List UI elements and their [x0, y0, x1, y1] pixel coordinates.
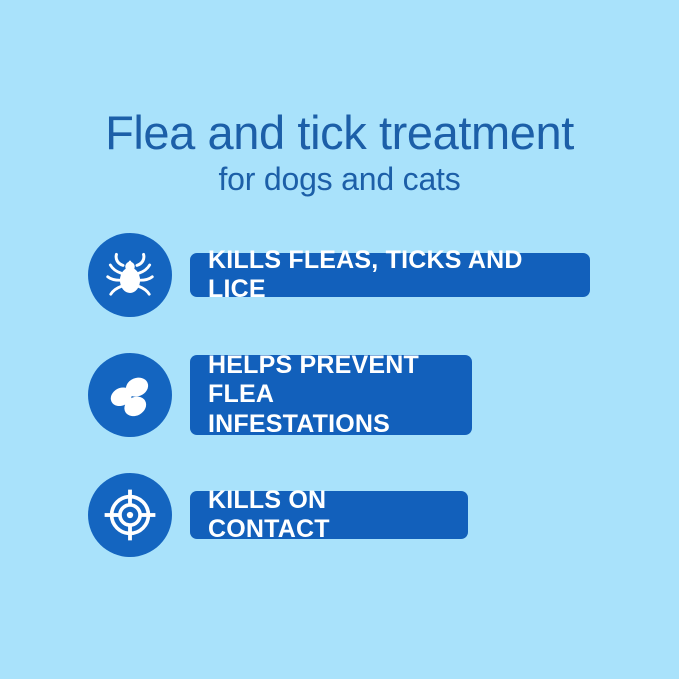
product-benefits-poster: Flea and tick treatment for dogs and cat…	[0, 0, 679, 679]
feature-row: KILLS FLEAS, TICKS AND LICE	[88, 232, 608, 318]
page-title: Flea and tick treatment	[0, 108, 679, 158]
crosshair-target-icon	[102, 487, 158, 543]
feature-list: KILLS FLEAS, TICKS AND LICE HELPS PRE	[88, 232, 608, 558]
feature-row: KILLS ON CONTACT	[88, 472, 608, 558]
feature-label-bar: HELPS PREVENT FLEA INFESTATIONS	[190, 355, 472, 435]
feature-icon-badge	[88, 233, 172, 317]
feature-icon-badge	[88, 353, 172, 437]
feature-row: HELPS PREVENT FLEA INFESTATIONS	[88, 352, 608, 438]
flea-eggs-icon	[102, 367, 158, 423]
feature-icon-badge	[88, 473, 172, 557]
feature-label-bar: KILLS FLEAS, TICKS AND LICE	[190, 253, 590, 297]
feature-label-text: KILLS ON CONTACT	[208, 486, 450, 545]
feature-label-text: HELPS PREVENT FLEA INFESTATIONS	[208, 351, 454, 440]
feature-label-bar: KILLS ON CONTACT	[190, 491, 468, 539]
tick-icon	[102, 247, 158, 303]
page-subtitle: for dogs and cats	[0, 162, 679, 197]
feature-label-text: KILLS FLEAS, TICKS AND LICE	[208, 246, 572, 305]
heading-block: Flea and tick treatment for dogs and cat…	[0, 108, 679, 197]
